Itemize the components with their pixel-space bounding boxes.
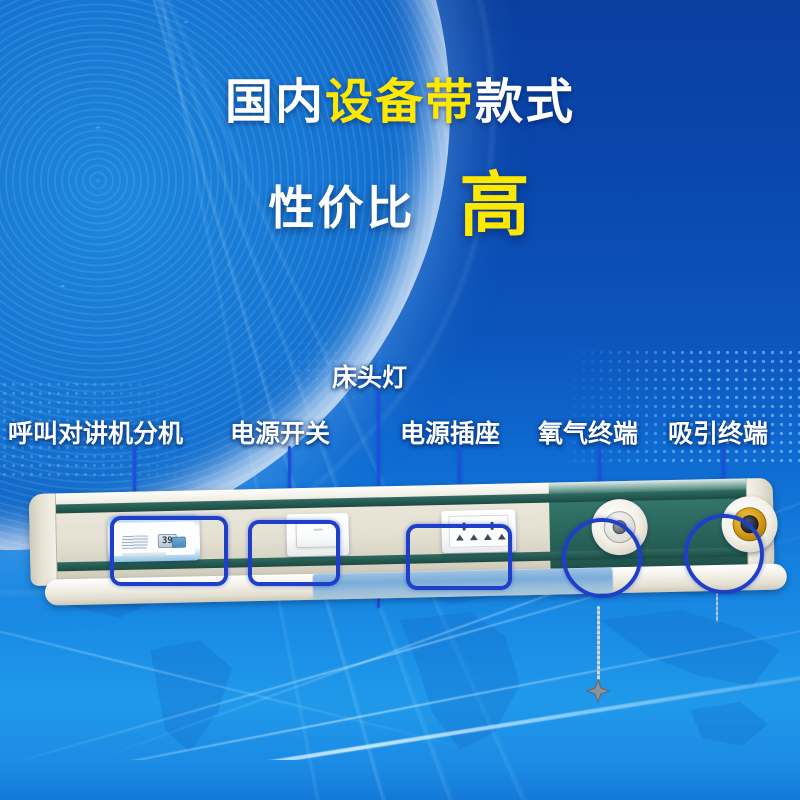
pull-chain[interactable] <box>597 606 600 680</box>
highlight-ring-oxygen <box>562 518 642 598</box>
chain-pendant-icon <box>583 676 613 706</box>
callout-label-power-socket: 电源插座 <box>400 414 500 450</box>
callout-label-bed-lamp: 床头灯 <box>332 358 407 394</box>
panel-endcap-left <box>29 493 58 586</box>
highlight-box-power-switch <box>248 520 340 586</box>
callout-layer: 呼叫对讲机分机 电源开关 床头灯 电源插座 氧气终端 吸引终端 <box>0 0 800 800</box>
callout-label-suction: 吸引终端 <box>668 414 768 450</box>
highlight-box-intercom <box>110 516 228 586</box>
callout-label-intercom: 呼叫对讲机分机 <box>8 414 183 450</box>
highlight-ring-suction <box>684 514 764 594</box>
callout-label-oxygen: 氧气终端 <box>538 414 638 450</box>
pull-chain-secondary[interactable] <box>716 592 718 622</box>
highlight-box-power-socket <box>406 524 512 590</box>
product-poster: 国内设备带款式 性价比 高 呼叫对讲机分机 电源开关 床头灯 电源插座 氧气终端… <box>0 0 800 800</box>
callout-label-power-switch: 电源开关 <box>230 414 330 450</box>
